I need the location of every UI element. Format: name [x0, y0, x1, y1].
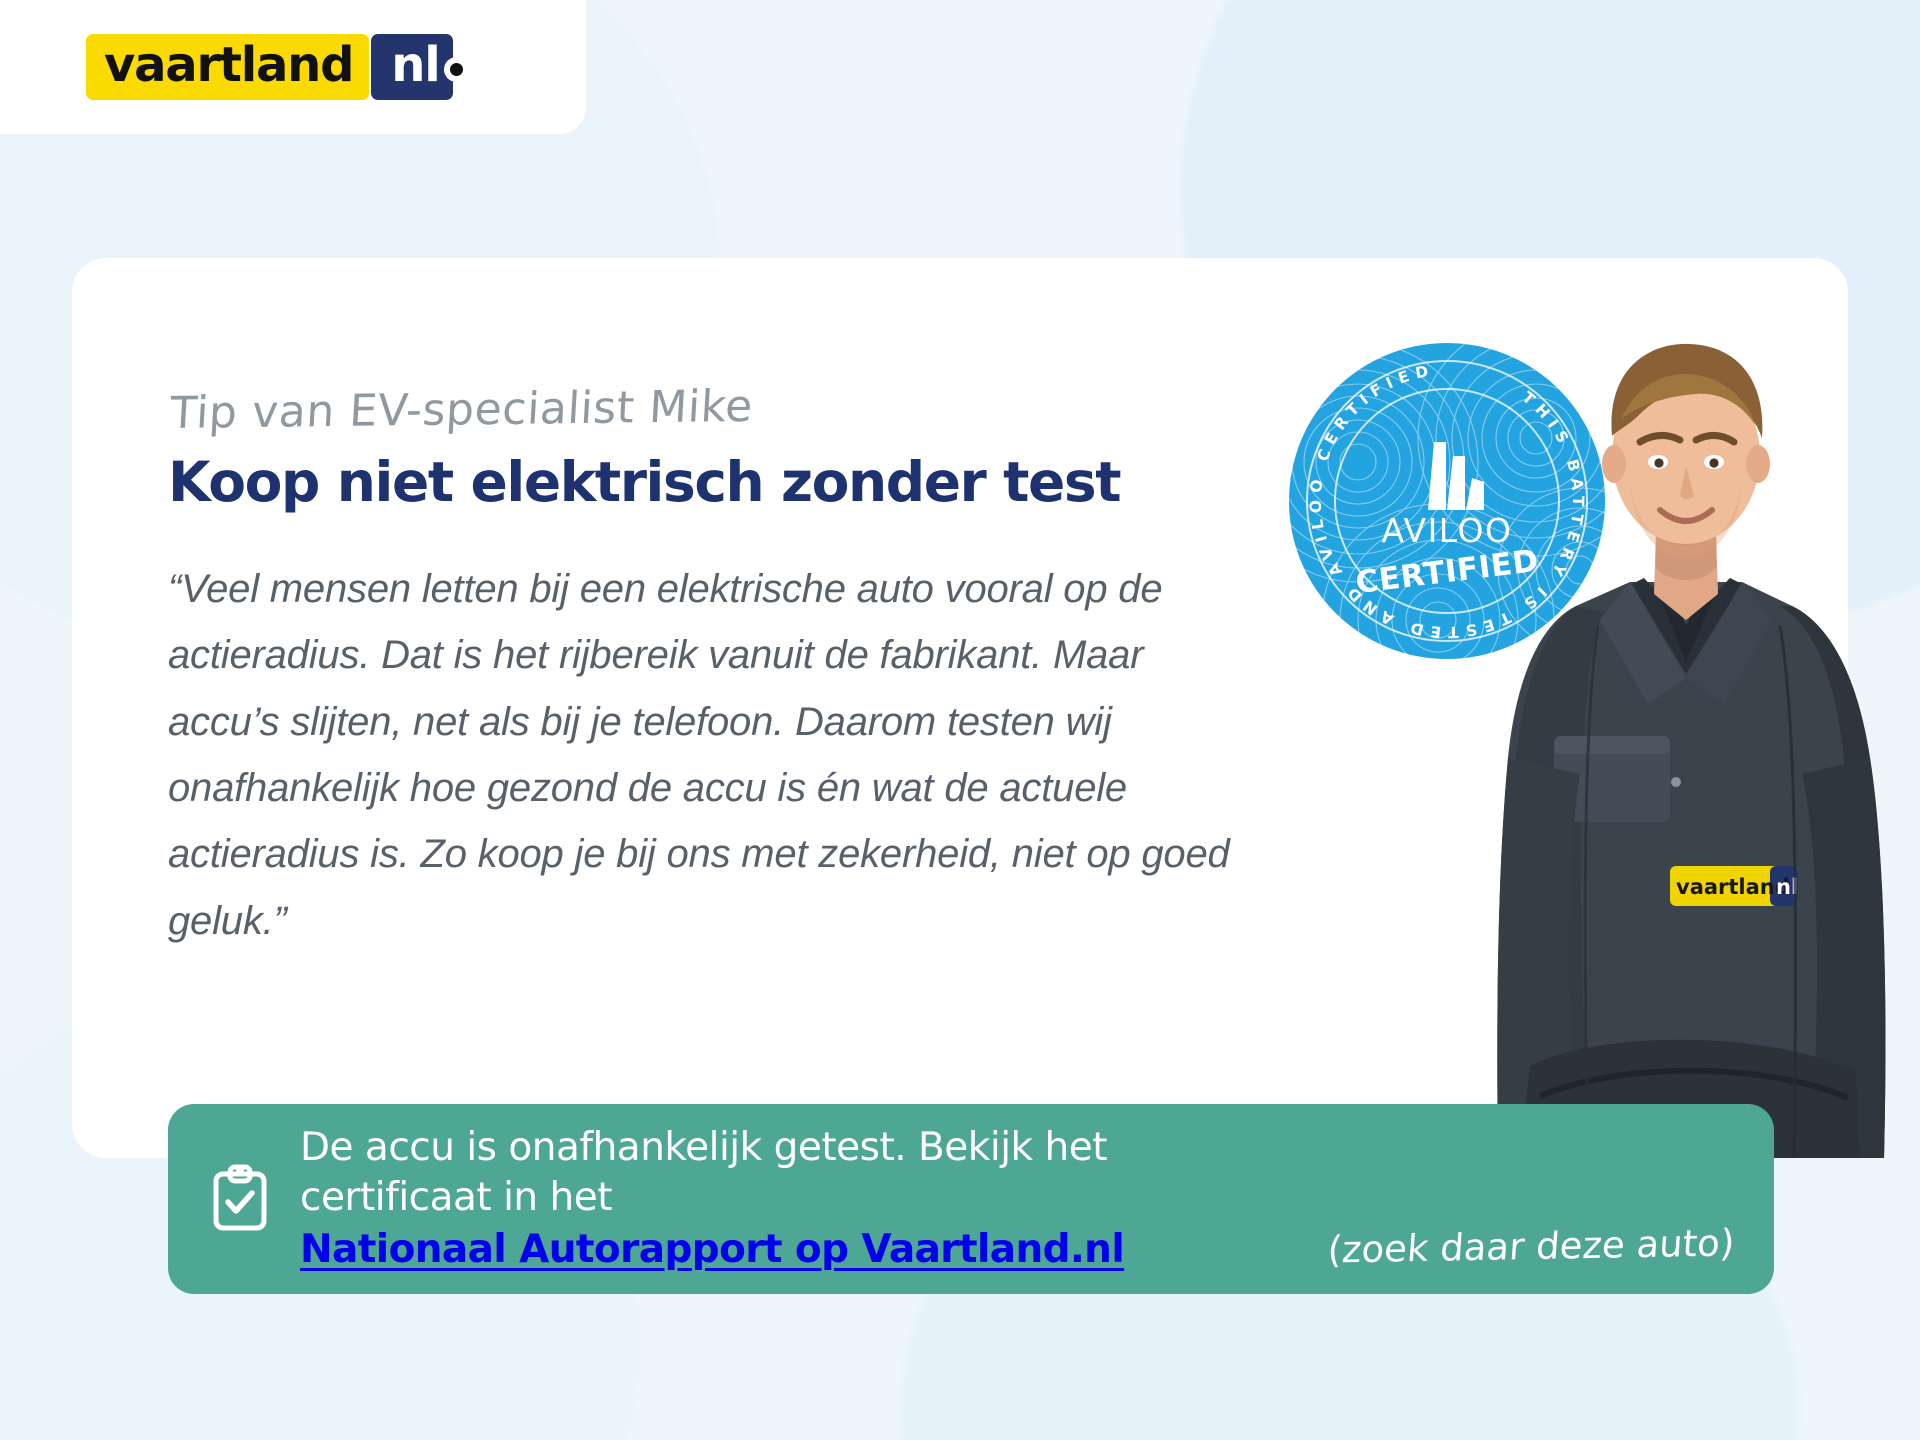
uniform-patch: vaartland nl — [1670, 866, 1798, 906]
banner-text-block: De accu is onafhankelijk getest. Bekijk … — [300, 1123, 1302, 1276]
logo-blue-badge: nl — [371, 34, 452, 100]
tip-kicker: Tip van EV-specialist Mike — [169, 379, 1270, 436]
tip-text-block: Tip van EV-specialist Mike Koop niet ele… — [168, 392, 1268, 954]
brand-logo-chip[interactable]: vaartland nl — [0, 0, 586, 134]
promo-canvas: vaartland nl Tip van EV-specialist Mike … — [0, 0, 1920, 1440]
logo-tld: nl — [391, 41, 439, 89]
technician-illustration: vaartland nl — [1480, 306, 1900, 1158]
nationaal-autorapport-link[interactable]: Nationaal Autorapport op Vaartland.nl — [300, 1225, 1124, 1276]
banner-handwritten-note: (zoek daar deze auto) — [1326, 1221, 1736, 1271]
banner-primary-text: De accu is onafhankelijk getest. Bekijk … — [300, 1123, 1302, 1223]
clipboard-check-icon — [212, 1164, 268, 1232]
tip-quote: “Veel mensen letten bij een elektrische … — [168, 556, 1238, 954]
logo-wordmark: vaartland — [104, 41, 353, 89]
logo-yellow-badge: vaartland — [86, 34, 369, 100]
uniform-patch-label: vaartland — [1676, 875, 1790, 899]
certificate-banner[interactable]: De accu is onafhankelijk getest. Bekijk … — [168, 1104, 1774, 1294]
vaartland-logo[interactable]: vaartland nl — [86, 34, 453, 100]
logo-dot-icon — [450, 63, 463, 76]
technician-photo: vaartland nl — [1480, 306, 1900, 1158]
page-title: Koop niet elektrisch zonder test — [168, 454, 1268, 512]
